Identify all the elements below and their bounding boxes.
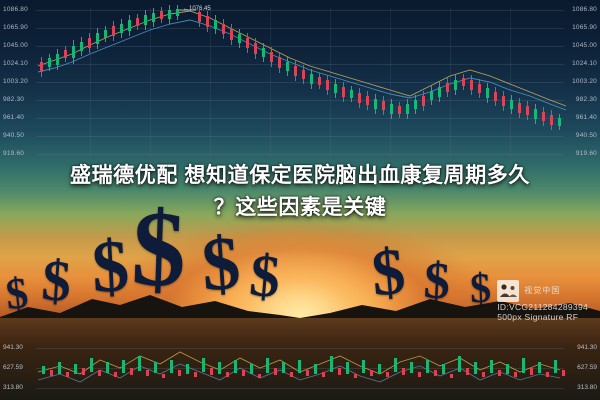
dollar-sign-icon: $ — [469, 268, 491, 311]
watermark: 视觉中国 ID:VCG211284289394 500px Signature … — [497, 280, 588, 322]
headline-line-1: 盛瑞德优配 想知道保定医院脑出血康复周期多久 — [70, 164, 530, 187]
dollar-sign-icon: $ — [199, 225, 242, 303]
dollar-sign-icon: $ — [4, 271, 30, 317]
image-canvas: 1086.80 1065.90 1045.00 1024.10 1003.20 … — [0, 0, 600, 400]
vcg-logo-icon — [497, 280, 519, 302]
dollar-sign-icon: $ — [369, 239, 408, 308]
watermark-logo: 视觉中国 — [497, 280, 588, 302]
dollar-sign-icon: $ — [90, 229, 131, 305]
watermark-id: ID:VCG211284289394 — [497, 302, 588, 312]
dollar-sign-icon: $ — [423, 255, 452, 308]
headline-text: 盛瑞德优配 想知道保定医院脑出血康复周期多久 ？这些因素是关键 — [0, 160, 600, 224]
watermark-brand: 视觉中国 — [524, 287, 560, 295]
headline-line-2: ？这些因素是关键 — [0, 192, 600, 224]
watermark-signature: 500px Signature RF — [497, 312, 588, 322]
dollar-sign-icon: $ — [40, 251, 73, 311]
dollar-sign-icon: $ — [247, 245, 282, 307]
